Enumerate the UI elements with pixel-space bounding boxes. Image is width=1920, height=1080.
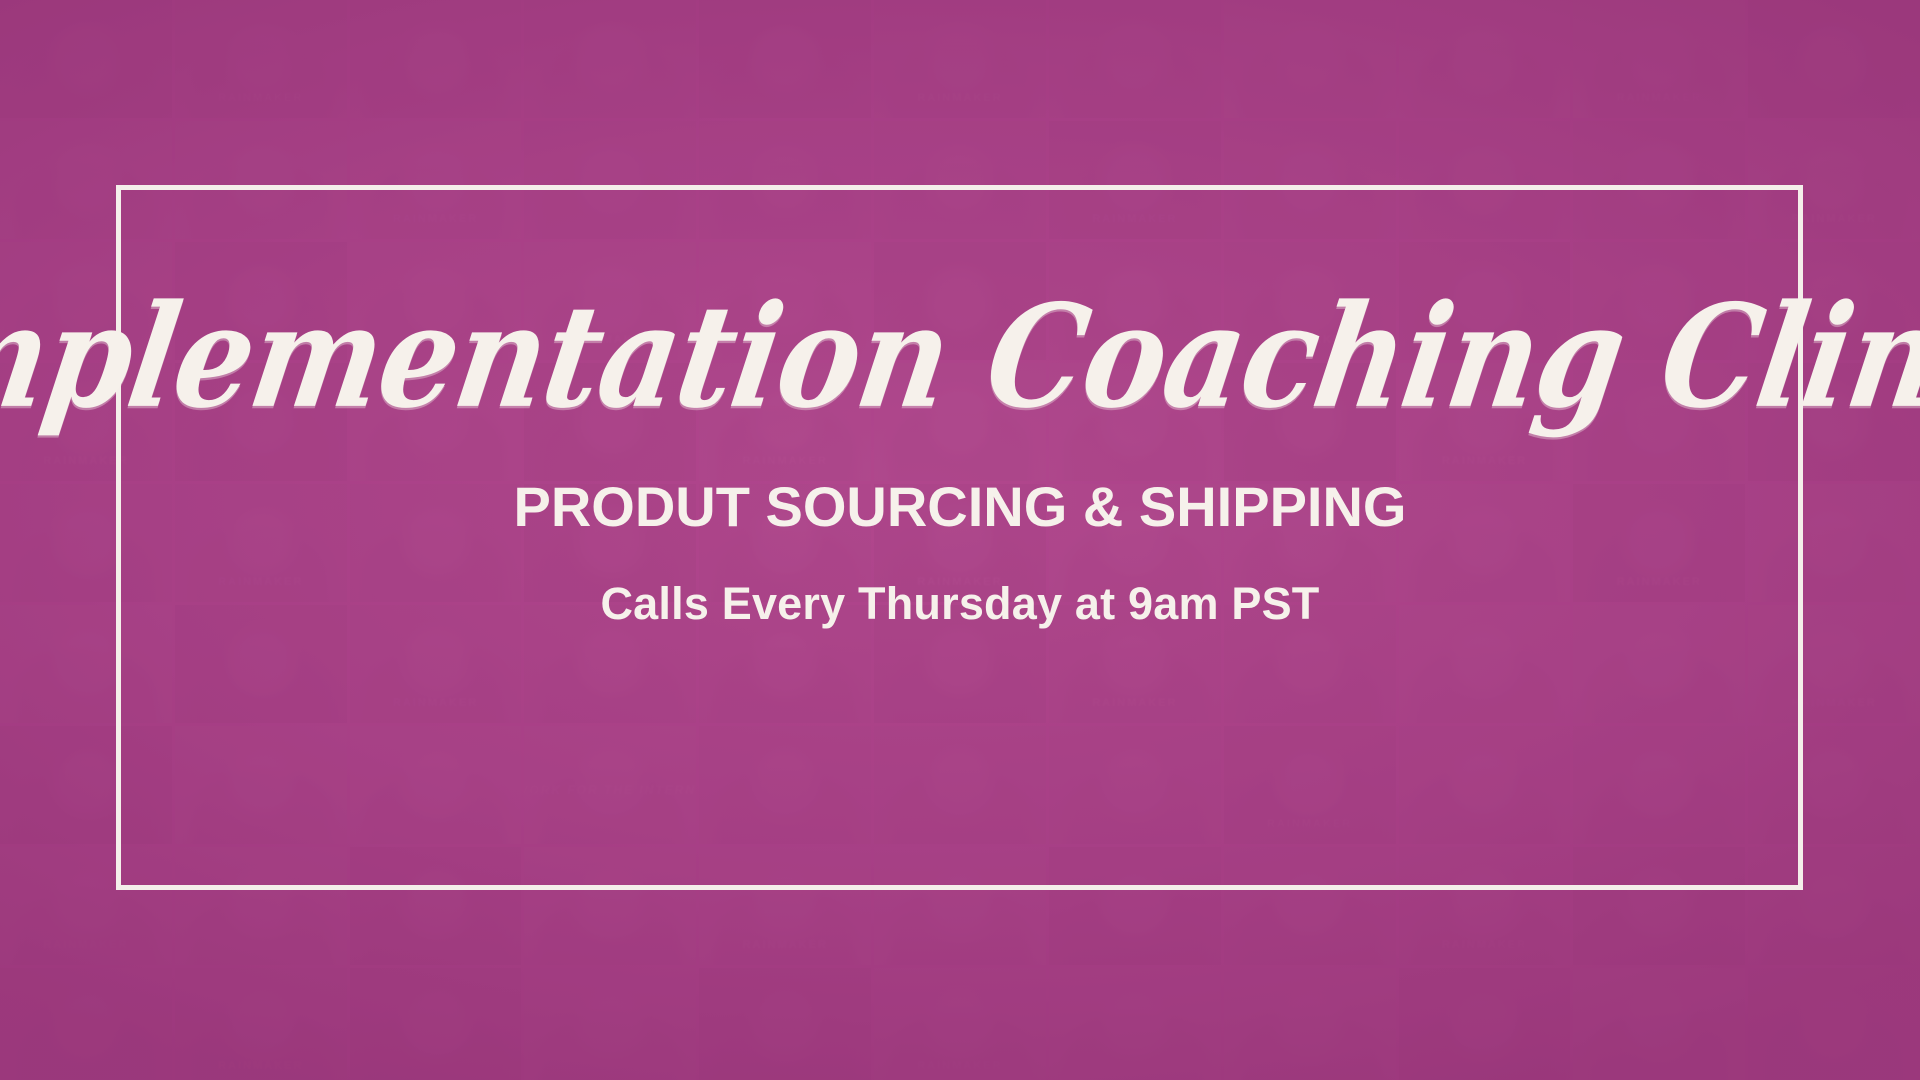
banner-canvas: RAINMAKERRAINMAKERRAINMAKERRAINMAKERRAIN… [0, 0, 1920, 1080]
decorative-frame-border [116, 185, 1803, 890]
